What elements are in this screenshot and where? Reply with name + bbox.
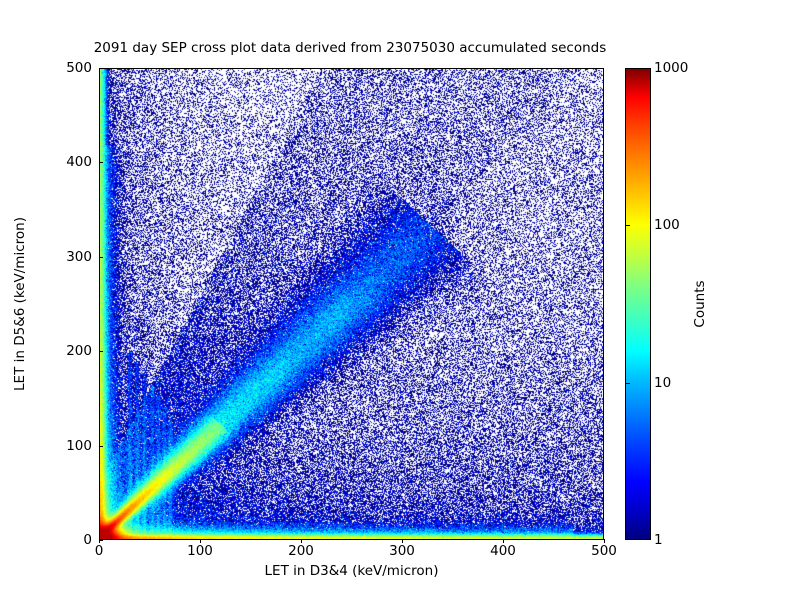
y-tick-200 [99, 351, 103, 352]
y-tick-label-100: 100 [66, 438, 92, 454]
colorbar-tick-10 [625, 383, 630, 384]
colorbar-tick-label-1: 1 [654, 532, 663, 548]
y-axis-label: LET in D5&6 (keV/micron) [12, 217, 28, 391]
y-tick-400 [99, 162, 103, 163]
x-tick-label-0: 0 [95, 543, 104, 559]
x-tick-label-300: 300 [389, 543, 415, 559]
colorbar-tick-label-100: 100 [654, 217, 680, 233]
x-tick-label-500: 500 [591, 543, 617, 559]
y-tick-label-500: 500 [66, 60, 92, 76]
colorbar-gradient [626, 69, 650, 539]
colorbar-tick-label-10: 10 [654, 375, 671, 391]
y-tick-label-0: 0 [83, 532, 92, 548]
y-tick-label-400: 400 [66, 154, 92, 170]
x-tick-label-400: 400 [490, 543, 516, 559]
colorbar-label: Counts [692, 280, 708, 327]
y-tick-label-300: 300 [66, 249, 92, 265]
y-tick-300 [99, 257, 103, 258]
y-tick-label-200: 200 [66, 343, 92, 359]
y-tick-100 [99, 446, 103, 447]
y-tick-500 [99, 68, 103, 69]
colorbar [625, 68, 651, 540]
x-tick-label-200: 200 [288, 543, 314, 559]
x-axis-label: LET in D3&4 (keV/micron) [99, 563, 604, 579]
title-line-1: 2091 day SEP cross plot data derived fro… [0, 40, 700, 57]
scatter-density-plot [100, 69, 603, 539]
y-tick-0 [99, 540, 103, 541]
x-tick-label-100: 100 [187, 543, 213, 559]
plot-axes-frame [99, 68, 604, 540]
figure-root: 2091 day SEP cross plot data derived fro… [0, 0, 800, 600]
colorbar-tick-label-1000: 1000 [654, 60, 688, 76]
colorbar-tick-100 [625, 225, 630, 226]
